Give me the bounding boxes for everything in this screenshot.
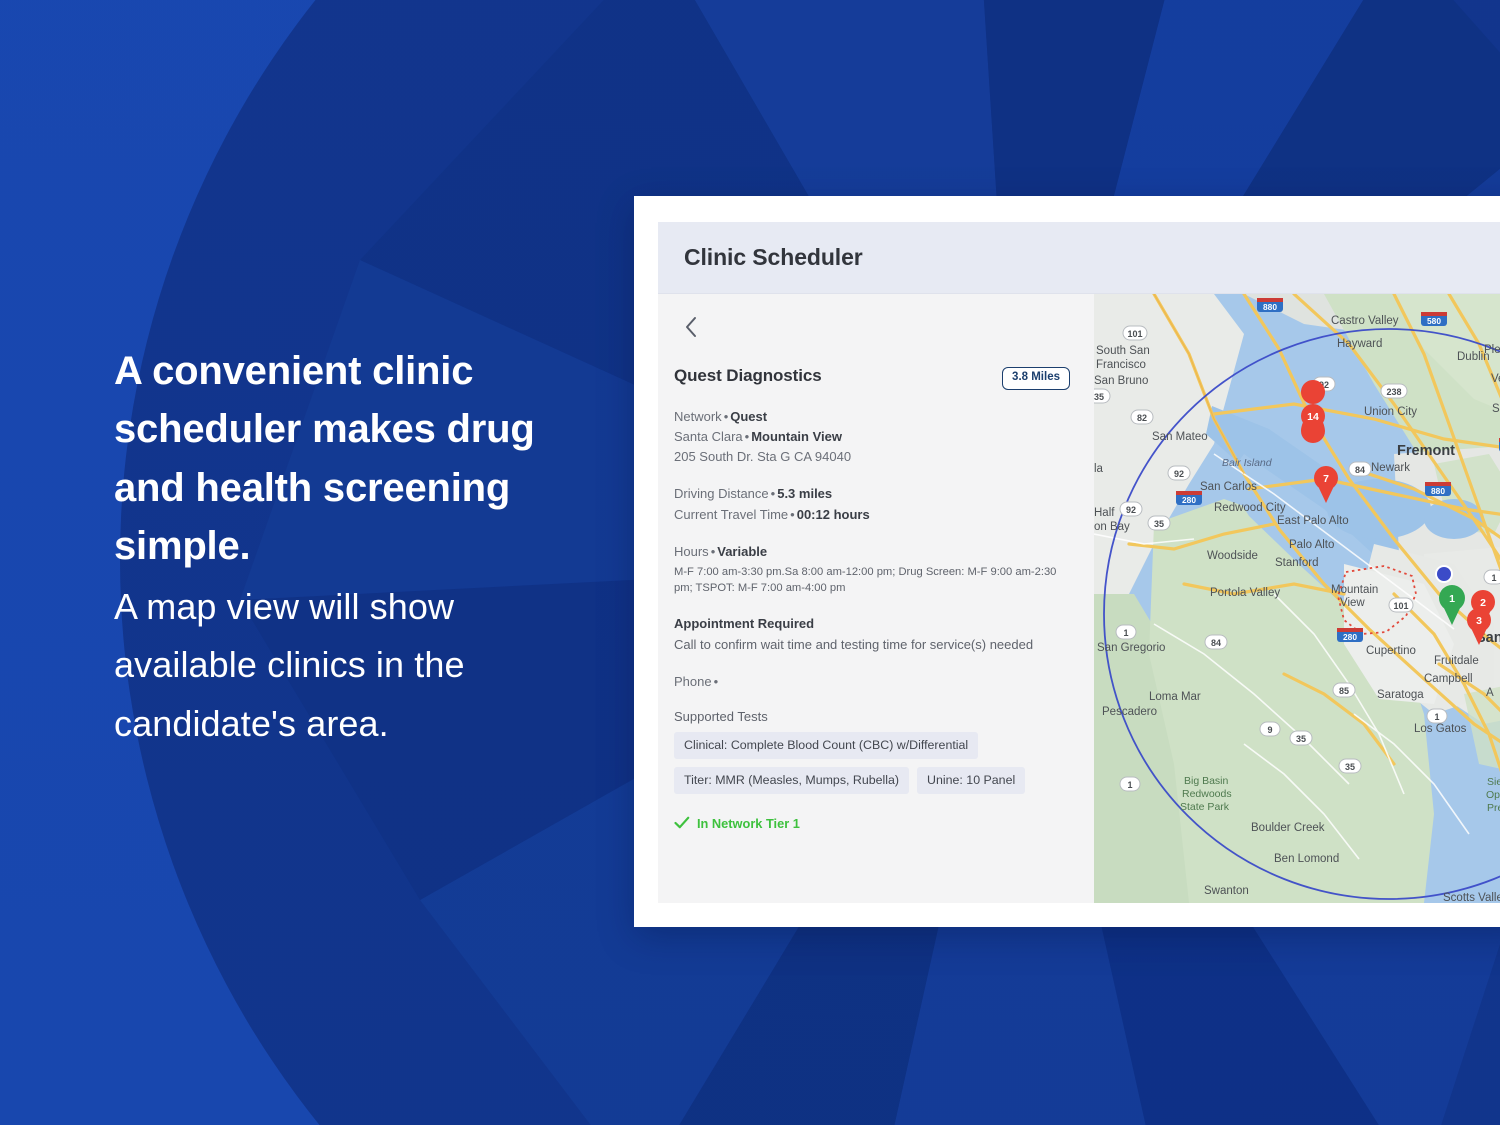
svg-text:92: 92 [1174, 469, 1184, 479]
locality-line: Santa Clara•Mountain View [674, 427, 1072, 447]
bullet-sep: • [788, 507, 797, 522]
route-shield: 9 [1260, 722, 1280, 736]
svg-text:14: 14 [1307, 411, 1319, 423]
travel-time-label: Current Travel Time [674, 507, 788, 522]
svg-text:1: 1 [1449, 593, 1455, 605]
phone-line: Phone• [674, 672, 1072, 692]
route-shield: 84 [1349, 462, 1371, 476]
hours-block: Hours•Variable M-F 7:00 am-3:30 pm.Sa 8:… [674, 542, 1072, 597]
route-shield: 85 [1333, 683, 1355, 697]
street-address: 205 South Dr. Sta G CA 94040 [674, 447, 1072, 467]
svg-text:35: 35 [1296, 734, 1306, 744]
map-pin-14: 14 [1301, 380, 1325, 443]
svg-text:580: 580 [1427, 316, 1441, 326]
svg-text:9: 9 [1267, 725, 1272, 735]
travel-block: Driving Distance•5.3 miles Current Trave… [674, 484, 1072, 525]
svg-text:A: A [1486, 687, 1494, 699]
chevron-left-icon [684, 316, 698, 338]
network-line: Network•Quest [674, 407, 1072, 427]
svg-text:280: 280 [1343, 632, 1357, 642]
hours-label: Hours [674, 544, 709, 559]
appointment-block: Appointment Required Call to confirm wai… [674, 614, 1072, 655]
svg-text:2: 2 [1480, 597, 1486, 609]
travel-time-value: 00:12 hours [797, 507, 870, 522]
hours-detail: M-F 7:00 am-3:30 pm.Sa 8:00 am-12:00 pm;… [674, 565, 1072, 597]
svg-text:Redwood City: Redwood City [1214, 502, 1286, 514]
svg-text:880: 880 [1263, 302, 1277, 312]
svg-text:1: 1 [1491, 573, 1496, 583]
route-shield: 35 [1339, 759, 1361, 773]
svg-text:South San: South San [1096, 345, 1150, 357]
svg-text:Su: Su [1492, 403, 1500, 415]
svg-text:San Gregorio: San Gregorio [1097, 642, 1165, 654]
svg-text:Woodside: Woodside [1207, 550, 1258, 562]
route-shield: 92 [1168, 466, 1190, 480]
svg-text:San Bruno: San Bruno [1094, 375, 1148, 387]
svg-text:Fremont: Fremont [1397, 443, 1455, 459]
route-shield: 238 [1381, 384, 1407, 398]
svg-text:East Palo Alto: East Palo Alto [1277, 515, 1349, 527]
svg-text:84: 84 [1211, 638, 1221, 648]
route-shield: 1 [1116, 625, 1136, 639]
clinic-map[interactable]: South San Francisco San Bruno San Mateo … [1094, 294, 1500, 903]
app-inner-surface: Clinic Scheduler Quest Diagnostics 3.8 M… [658, 222, 1500, 903]
test-chip: Titer: MMR (Measles, Mumps, Rubella) [674, 767, 909, 794]
svg-text:85: 85 [1339, 686, 1349, 696]
interstate-shield: 880 [1257, 298, 1283, 312]
test-chip: Unine: 10 Panel [917, 767, 1025, 794]
svg-text:35: 35 [1154, 519, 1164, 529]
svg-text:Plea: Plea [1484, 344, 1500, 356]
promo-block: A convenient clinic scheduler makes drug… [114, 342, 584, 754]
svg-text:35: 35 [1345, 762, 1355, 772]
supported-tests-block: Supported Tests Clinical: Complete Blood… [674, 709, 1072, 794]
svg-text:on Bay: on Bay [1094, 521, 1130, 533]
interstate-shield: 280 [1337, 628, 1363, 642]
svg-text:101: 101 [1127, 329, 1142, 339]
clinic-name: Quest Diagnostics [674, 366, 822, 386]
svg-text:Sierra: Sierra [1487, 776, 1500, 788]
route-shield: 82 [1131, 410, 1153, 424]
network-tier-label: In Network Tier 1 [697, 816, 800, 831]
phone-block: Phone• [674, 672, 1072, 692]
svg-text:Campbell: Campbell [1424, 673, 1473, 685]
app-header-bar: Clinic Scheduler [658, 222, 1500, 294]
svg-text:Half: Half [1094, 507, 1115, 519]
svg-text:Castro Valley: Castro Valley [1331, 315, 1399, 327]
svg-text:Boulder Creek: Boulder Creek [1251, 822, 1325, 834]
svg-text:1: 1 [1123, 628, 1128, 638]
svg-text:Pescadero: Pescadero [1102, 706, 1157, 718]
clinic-detail-pane: Quest Diagnostics 3.8 Miles Network•Ques… [658, 294, 1094, 903]
route-shield: 84 [1205, 635, 1227, 649]
hours-line: Hours•Variable [674, 542, 1072, 562]
check-icon [674, 816, 690, 830]
svg-text:82: 82 [1137, 413, 1147, 423]
svg-text:Fruitdale: Fruitdale [1434, 655, 1479, 667]
network-label: Network [674, 409, 722, 424]
bullet-sep: • [743, 429, 752, 444]
svg-text:Portola Valley: Portola Valley [1210, 587, 1280, 599]
distance-badge: 3.8 Miles [1002, 367, 1070, 390]
route-shield: 1 [1484, 570, 1500, 584]
appointment-heading: Appointment Required [674, 614, 1072, 634]
route-shield: 35 [1094, 389, 1110, 403]
driving-distance-label: Driving Distance [674, 486, 769, 501]
svg-text:Newark: Newark [1371, 462, 1410, 474]
route-shield: 1 [1427, 709, 1447, 723]
network-value: Quest [730, 409, 767, 424]
svg-text:92: 92 [1126, 505, 1136, 515]
svg-text:Union City: Union City [1364, 406, 1417, 418]
user-location-dot [1435, 565, 1453, 583]
svg-text:Loma Mar: Loma Mar [1149, 691, 1201, 703]
page-title: Clinic Scheduler [684, 244, 863, 271]
route-shield: 1 [1120, 777, 1140, 791]
svg-text:Cupertino: Cupertino [1366, 645, 1416, 657]
hours-value: Variable [717, 544, 767, 559]
svg-text:Big Basin: Big Basin [1184, 775, 1229, 787]
svg-text:Saratoga: Saratoga [1377, 689, 1424, 701]
county-label: Santa Clara [674, 429, 743, 444]
svg-text:1: 1 [1127, 780, 1132, 790]
svg-text:View: View [1340, 597, 1365, 609]
test-chip: Clinical: Complete Blood Count (CBC) w/D… [674, 732, 978, 759]
supported-tests-label: Supported Tests [674, 709, 1072, 724]
map-canvas[interactable]: South San Francisco San Bruno San Mateo … [1094, 294, 1500, 903]
svg-text:Los Gatos: Los Gatos [1414, 723, 1467, 735]
svg-text:Ve: Ve [1491, 373, 1500, 385]
bullet-sep: • [722, 409, 731, 424]
svg-text:Stanford: Stanford [1275, 557, 1318, 569]
svg-text:San Carlos: San Carlos [1200, 481, 1257, 493]
route-shield: 92 [1120, 502, 1142, 516]
bullet-sep: • [709, 544, 718, 559]
supported-tests-chips: Clinical: Complete Blood Count (CBC) w/D… [674, 732, 1072, 794]
svg-text:Bair Island: Bair Island [1222, 457, 1273, 469]
back-button[interactable] [676, 312, 706, 342]
travel-time-line: Current Travel Time•00:12 hours [674, 505, 1072, 525]
promo-subline: A map view will show available clinics i… [114, 578, 584, 754]
svg-text:238: 238 [1386, 387, 1401, 397]
driving-distance-value: 5.3 miles [777, 486, 832, 501]
svg-text:101: 101 [1393, 601, 1408, 611]
svg-text:280: 280 [1182, 495, 1196, 505]
interstate-shield: 880 [1425, 482, 1451, 496]
svg-text:7: 7 [1323, 473, 1329, 485]
app-window-card: Clinic Scheduler Quest Diagnostics 3.8 M… [634, 196, 1500, 927]
svg-text:Ben Lomond: Ben Lomond [1274, 853, 1339, 865]
interstate-shield: 580 [1421, 312, 1447, 326]
svg-text:Palo Alto: Palo Alto [1289, 539, 1334, 551]
svg-text:Francisco: Francisco [1096, 359, 1146, 371]
route-shield: 101 [1123, 326, 1147, 340]
route-shield: 101 [1389, 598, 1413, 612]
bullet-sep: • [712, 674, 721, 689]
app-body: Quest Diagnostics 3.8 Miles Network•Ques… [658, 294, 1500, 903]
route-shield: 35 [1290, 731, 1312, 745]
network-tier-status: In Network Tier 1 [674, 816, 1072, 831]
svg-text:Swanton: Swanton [1204, 885, 1249, 897]
svg-text:3: 3 [1476, 615, 1482, 627]
phone-label: Phone [674, 674, 712, 689]
svg-text:Prese: Prese [1487, 802, 1500, 814]
svg-text:Hayward: Hayward [1337, 338, 1382, 350]
svg-text:84: 84 [1355, 465, 1365, 475]
svg-text:Mountain: Mountain [1331, 584, 1378, 596]
svg-text:la: la [1094, 463, 1104, 475]
svg-text:Open S: Open S [1486, 789, 1500, 801]
city-value: Mountain View [751, 429, 842, 444]
svg-text:San Mateo: San Mateo [1152, 431, 1208, 443]
promo-headline: A convenient clinic scheduler makes drug… [114, 342, 584, 576]
svg-text:1: 1 [1434, 712, 1439, 722]
svg-text:Redwoods: Redwoods [1182, 788, 1232, 800]
clinic-address-block: Network•Quest Santa Clara•Mountain View … [674, 407, 1072, 468]
svg-text:Scotts Valley: Scotts Valley [1443, 892, 1500, 903]
driving-distance-line: Driving Distance•5.3 miles [674, 484, 1072, 504]
clinic-header-row: Quest Diagnostics 3.8 Miles [674, 366, 1072, 390]
bullet-sep: • [769, 486, 778, 501]
route-shield: 35 [1148, 516, 1170, 530]
appointment-text: Call to confirm wait time and testing ti… [674, 635, 1072, 655]
svg-text:880: 880 [1431, 486, 1445, 496]
svg-text:State Park: State Park [1180, 801, 1230, 813]
interstate-shield: 280 [1176, 491, 1202, 505]
svg-text:35: 35 [1094, 392, 1104, 402]
